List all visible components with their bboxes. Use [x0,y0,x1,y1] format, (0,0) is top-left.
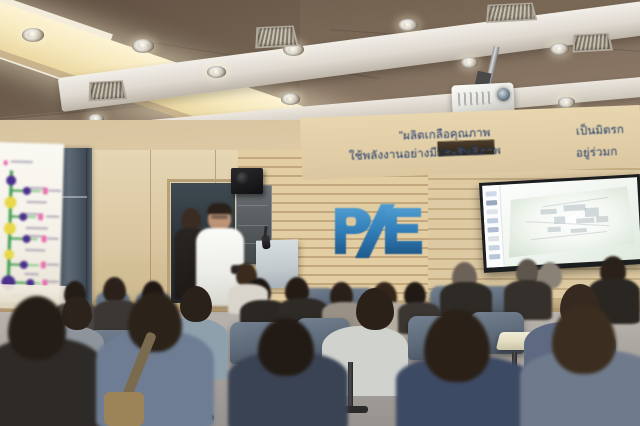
cabinet-line [238,205,268,206]
slide-sidebar-block [487,218,498,224]
slide-sidebar-block [489,245,500,251]
recessed-downlight [281,93,300,105]
slide-sidebar-block [486,209,497,215]
downlight-bulb [212,69,222,75]
recessed-downlight [550,43,569,55]
ceiling-air-vent [88,80,127,101]
roll-up-banner [0,142,64,304]
pe-company-logo [329,200,429,262]
projector-vent-grille [458,91,493,106]
downlight-bulb [555,46,565,52]
speaker-cone [236,172,249,185]
slide-sidebar-block [485,191,496,197]
slide-sidebar-block [488,227,499,233]
audience-head [356,288,394,330]
slogan-line-4: อยู่ร่วมก [576,146,618,161]
conference-room-photo: "ผลิตเกลือคุณภาพ ใช้พลังงานอย่างมีประสิท… [0,0,640,426]
downlight-bulb [562,100,571,105]
recessed-downlight [22,28,44,42]
ceiling-air-vent [486,3,537,23]
column-detail-line [60,196,87,198]
downlight-bulb [27,31,38,38]
downlight-bulb [137,42,148,49]
slide-aerial-photo [502,183,637,260]
slide-sidebar-block [489,254,500,260]
audience-head [180,286,212,322]
wall-column-edge [86,148,92,326]
downlight-bulb [465,60,474,65]
slide-sidebar-block [486,200,497,206]
slogan-line-3: เป็นมิตรก [576,124,624,139]
downlight-bulb [286,96,296,102]
ceiling-air-vent [255,25,298,48]
recessed-downlight [132,39,154,53]
recessed-downlight [461,57,478,68]
presenter-glasses [211,215,228,219]
woven-bag [104,392,144,426]
slide-sidebar-block [488,236,499,242]
projection-screen-surface [482,177,640,268]
banner-node-diagram [0,142,64,304]
ceiling-air-vent [572,33,613,53]
downlight-bulb [403,22,413,28]
recessed-downlight [207,66,226,78]
audience-head-foreground [258,318,314,376]
cabinet-line [238,225,268,226]
audience-head-foreground [128,292,182,352]
audience-head [62,296,92,330]
slide-sidebar [482,185,505,268]
downlight-bulb [288,46,299,53]
presenter-hair [207,203,232,214]
recessed-downlight [558,97,575,108]
chair-leg [348,362,353,406]
